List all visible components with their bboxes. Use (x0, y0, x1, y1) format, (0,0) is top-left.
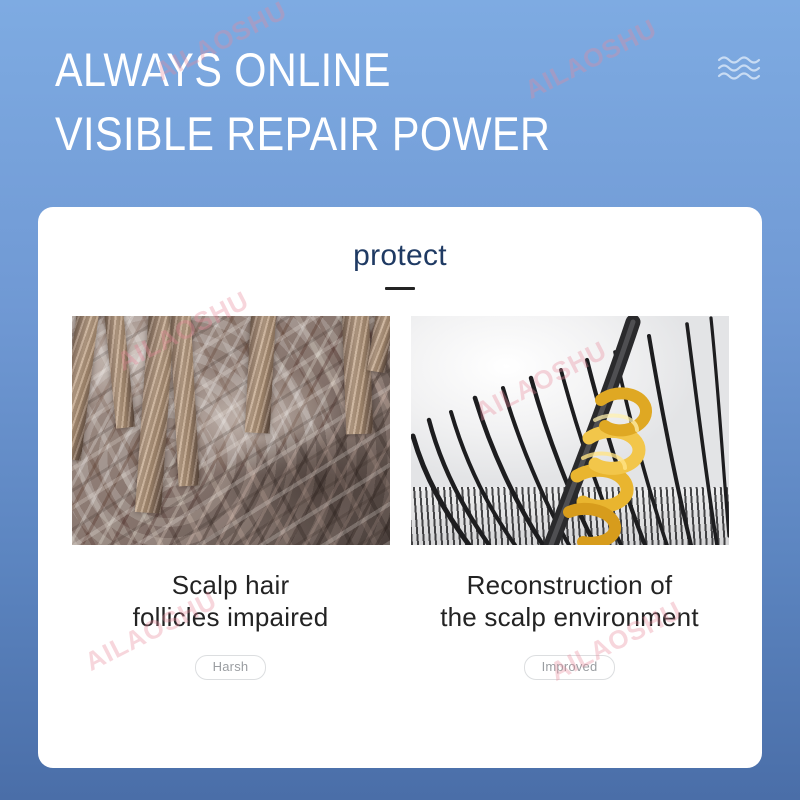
caption-line-1: Reconstruction of (411, 569, 729, 601)
panel-after-caption: Reconstruction of the scalp environment (411, 569, 729, 633)
hair-strands-graphic (411, 316, 729, 545)
headline-line-2: VISIBLE REPAIR POWER (55, 102, 653, 166)
title-divider (385, 287, 415, 290)
caption-line-1: Scalp hair (72, 569, 390, 601)
section-title: protect (38, 238, 762, 274)
water-wave-icon (716, 52, 764, 84)
panel-after-badge-row: Improved (411, 655, 729, 680)
sem-scalp-follicle-damage-photo (72, 316, 390, 545)
caption-line-2: the scalp environment (411, 601, 729, 633)
panel-before-caption: Scalp hair follicles impaired (72, 569, 390, 633)
hair-strands-gold-ribbon-repair-photo (411, 316, 729, 545)
panel-before: Scalp hair follicles impaired Harsh (72, 316, 390, 680)
panel-before-badge-row: Harsh (72, 655, 390, 680)
caption-line-2: follicles impaired (72, 601, 390, 633)
content-card: protect Scalp hair follicles impaired (38, 207, 762, 768)
panel-after: Reconstruction of the scalp environment … (411, 316, 729, 680)
header-block: ALWAYS ONLINE VISIBLE REPAIR POWER (55, 38, 735, 166)
status-badge-harsh[interactable]: Harsh (195, 655, 267, 680)
headline-line-1: ALWAYS ONLINE (55, 38, 653, 102)
comparison-panels: Scalp hair follicles impaired Harsh (38, 316, 762, 680)
status-badge-improved[interactable]: Improved (524, 655, 616, 680)
